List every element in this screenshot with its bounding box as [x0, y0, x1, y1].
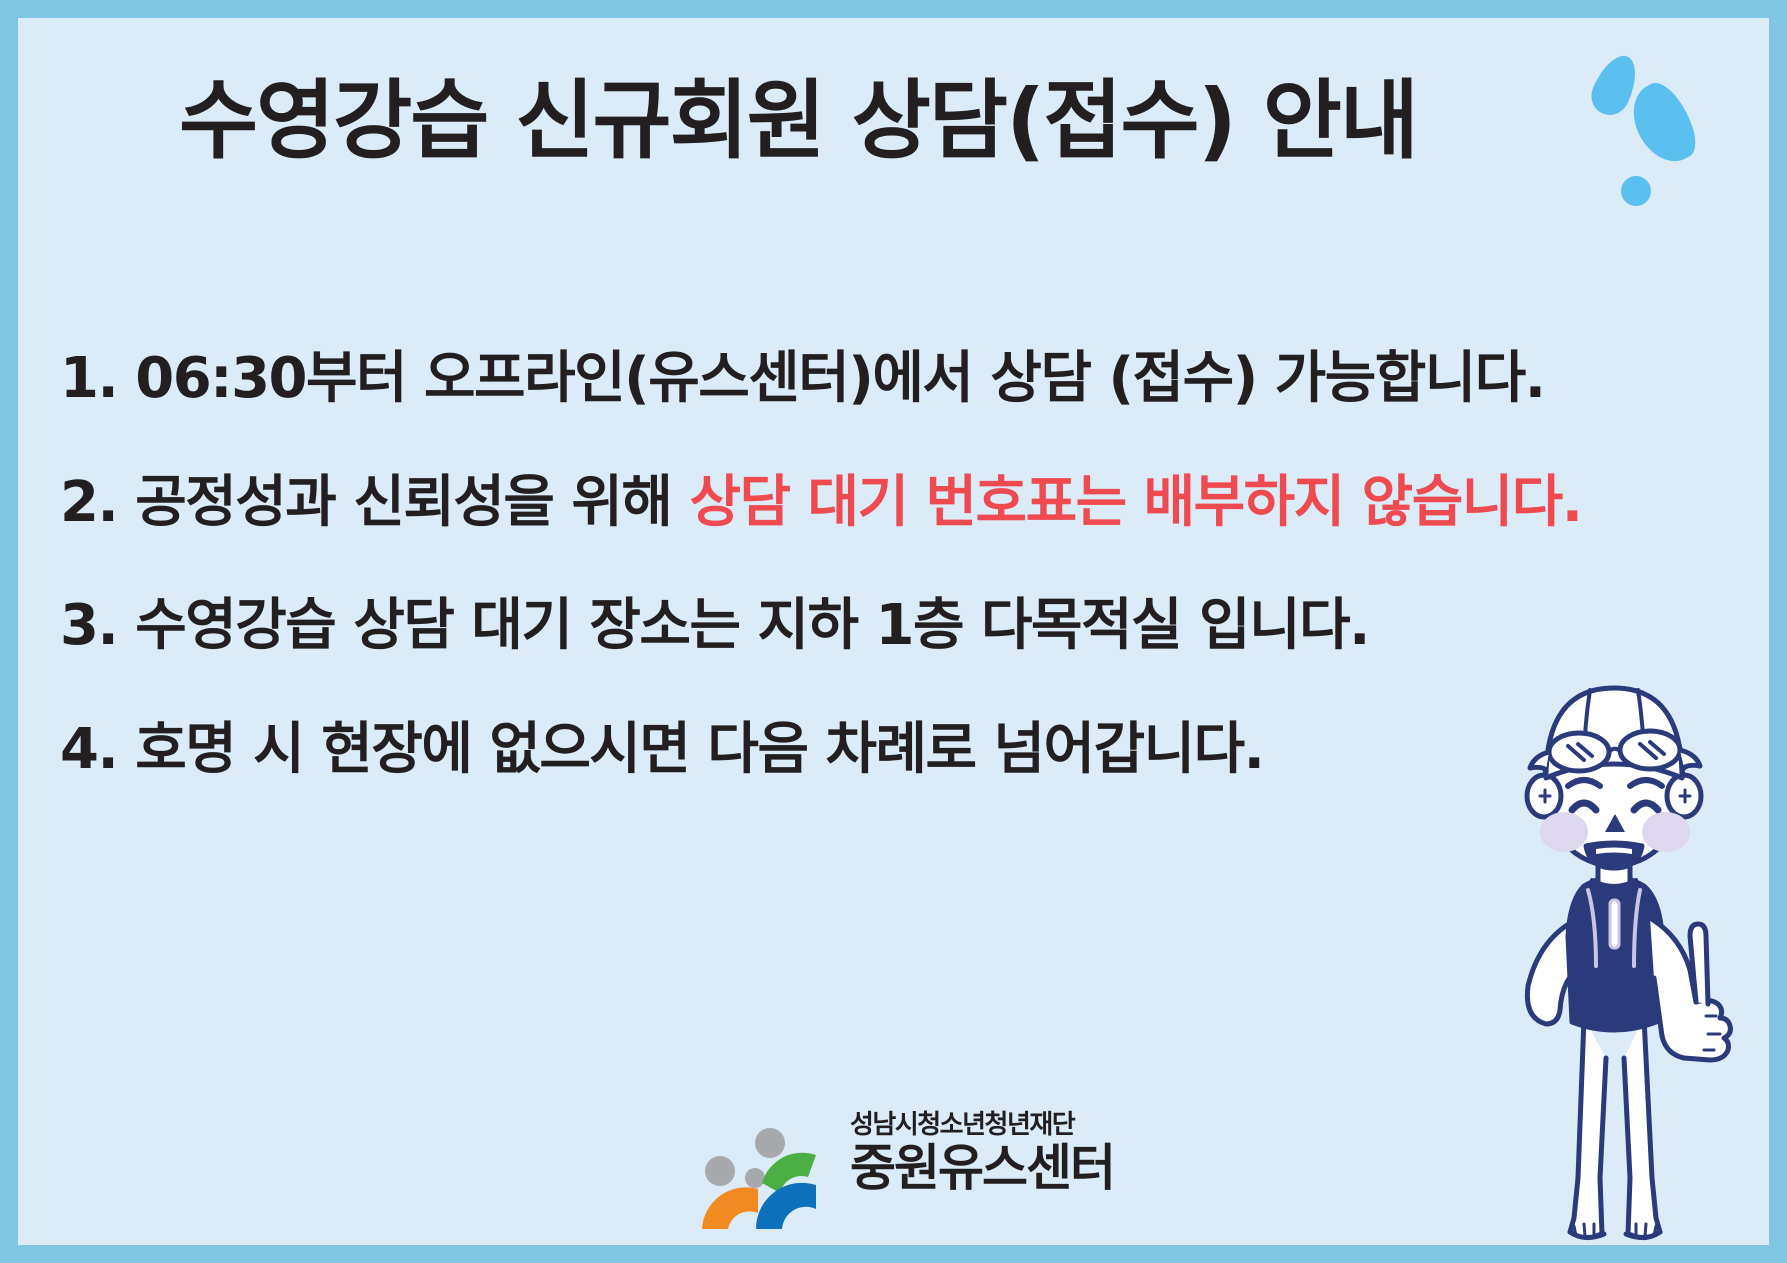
- list-item-number: 1.: [60, 346, 117, 411]
- list-item-number: 3.: [60, 593, 117, 658]
- list-item-number: 4.: [60, 717, 117, 782]
- logo-center-name: 중원유스센터: [850, 1142, 1160, 1195]
- list-item: 1. 06:30부터 오프라인(유스센터)에서 상담 (접수) 가능합니다.: [60, 348, 1760, 410]
- list-item-number: 2.: [60, 470, 117, 535]
- list-item-highlight-text: 상담 대기 번호표는 배부하지 않습니다.: [689, 470, 1581, 535]
- water-droplet-icon: [1621, 176, 1651, 206]
- water-droplet-icon: [1621, 76, 1705, 173]
- list-item-text: 호명 시 현장에 없으시면 다음 차례로 넘어갑니다.: [135, 717, 1263, 782]
- poster-root: 수영강습 신규회원 상담(접수) 안내 1. 06:30부터 오프라인(유스센터…: [0, 0, 1787, 1263]
- list-item: 2. 공정성과 신뢰성을 위해 상담 대기 번호표는 배부하지 않습니다.: [60, 472, 1760, 534]
- swimmer-mascot-illustration: [1484, 618, 1769, 1245]
- organization-logo: 성남시청소년청년재단 중원유스센터: [698, 1103, 1158, 1243]
- logo-mark-icon: [698, 1121, 848, 1231]
- list-item-text: 06:30부터 오프라인(유스센터)에서 상담 (접수) 가능합니다.: [135, 346, 1544, 411]
- list-item-text: 수영강습 상담 대기 장소는 지하 1층 다목적실 입니다.: [135, 593, 1369, 658]
- logo-text-block: 성남시청소년청년재단 중원유스센터: [850, 1111, 1160, 1194]
- logo-org-name: 성남시청소년청년재단: [850, 1111, 1160, 1140]
- poster-inner-panel: 수영강습 신규회원 상담(접수) 안내 1. 06:30부터 오프라인(유스센터…: [18, 18, 1769, 1245]
- list-item-text: 공정성과 신뢰성을 위해: [135, 470, 671, 535]
- page-title: 수영강습 신규회원 상담(접수) 안내: [18, 76, 1578, 166]
